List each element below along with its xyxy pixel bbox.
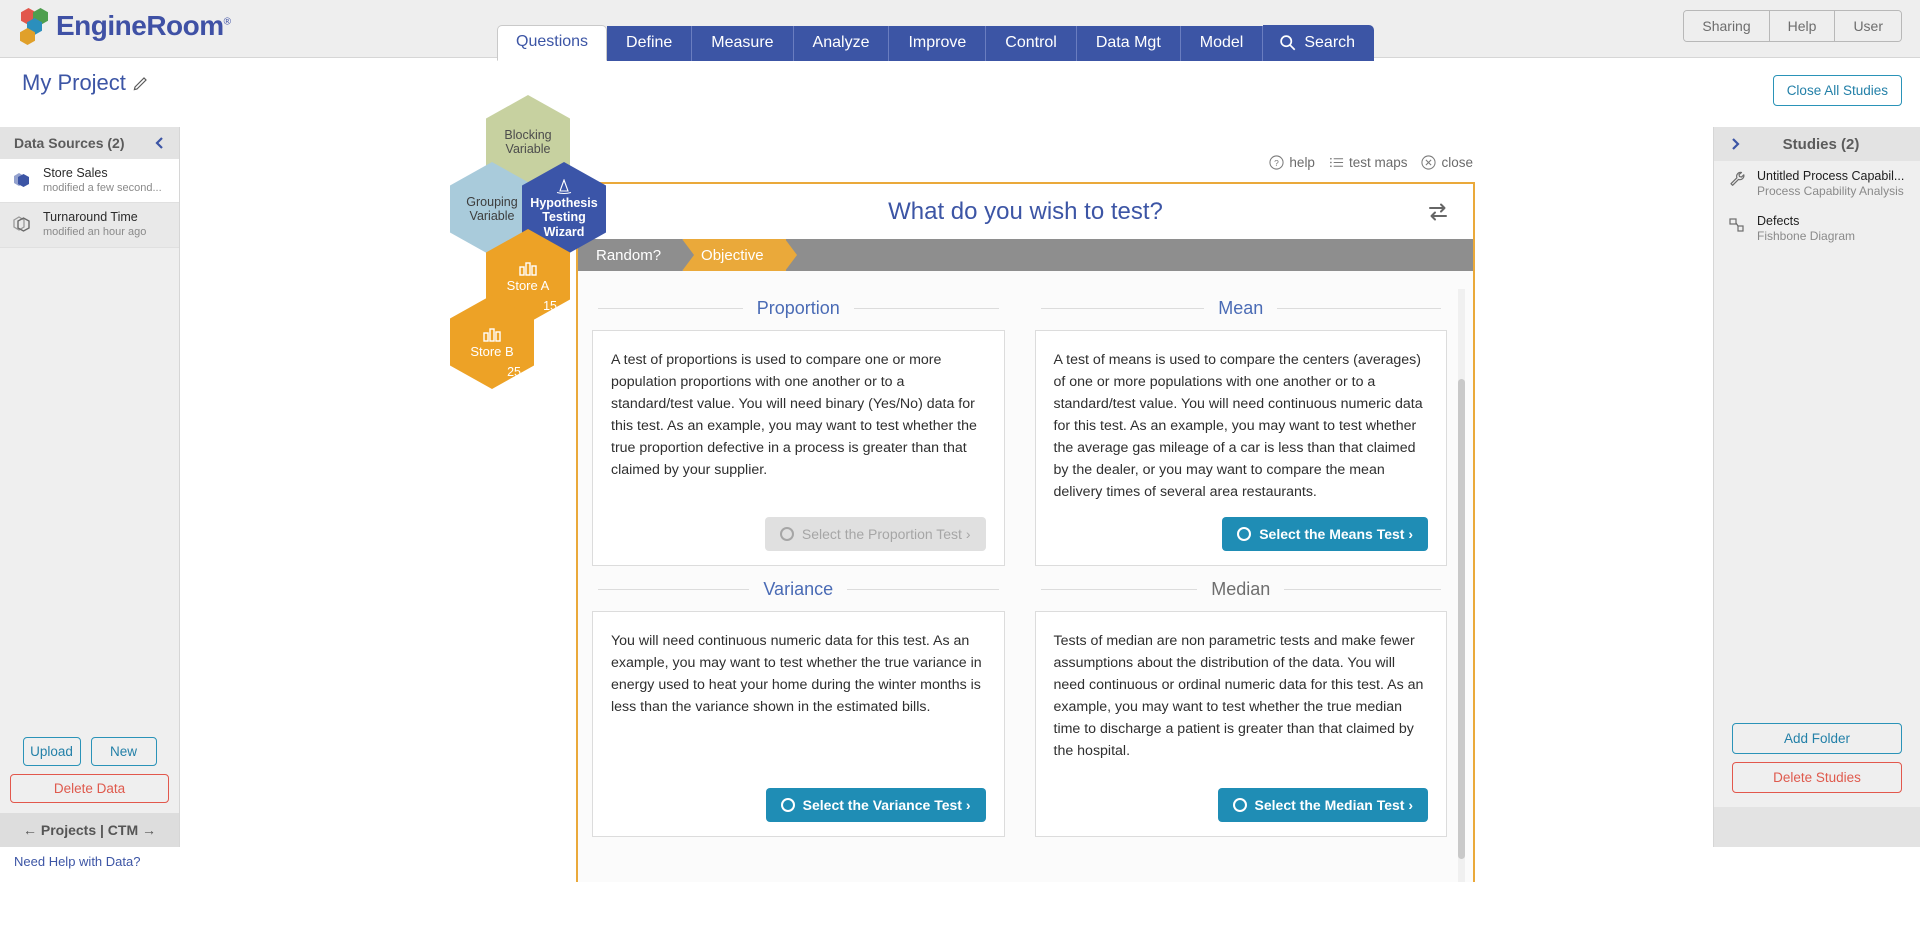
radio-ring-icon: [1233, 798, 1247, 812]
data-source-name: Store Sales: [43, 166, 162, 182]
data-sources-panel: Data Sources (2) Store Sales modified a …: [0, 127, 180, 847]
wizard-breadcrumbs: Random? Objective: [578, 239, 1473, 271]
section-title-proportion: Proportion: [592, 285, 1005, 330]
tab-model[interactable]: Model: [1181, 26, 1264, 61]
delete-studies-button[interactable]: Delete Studies: [1732, 762, 1902, 793]
study-name: Untitled Process Capabil...: [1757, 168, 1904, 184]
project-header: My Project: [0, 70, 180, 96]
studies-footer: [1714, 807, 1920, 847]
section-title-mean: Mean: [1035, 285, 1448, 330]
divider-line: [1284, 589, 1441, 590]
select-proportion-test-label: Select the Proportion Test ›: [802, 526, 971, 542]
card-proportion: A test of proportions is used to compare…: [592, 330, 1005, 566]
upload-new-row: Upload New: [10, 737, 169, 766]
tab-improve[interactable]: Improve: [889, 26, 986, 61]
select-median-test-label: Select the Median Test ›: [1255, 797, 1413, 813]
data-sources-header: Data Sources (2): [0, 127, 179, 159]
card-median-body: Tests of median are non parametric tests…: [1054, 630, 1429, 762]
studies-panel: Studies (2) Untitled Process Capabil... …: [1713, 127, 1920, 847]
wizard-toolbar: ? help test maps close: [1269, 155, 1473, 170]
close-all-studies-button[interactable]: Close All Studies: [1773, 75, 1902, 106]
section-cards-row-1: A test of proportions is used to compare…: [592, 330, 1447, 566]
main-navigation-tabs: Questions Define Measure Analyze Improve…: [497, 33, 1374, 61]
search-label: Search: [1304, 35, 1355, 51]
collapse-left-chevron-icon[interactable]: [153, 136, 167, 150]
section-title-text: Variance: [763, 579, 833, 600]
hex-blocking-label: Blocking Variable: [486, 128, 570, 157]
data-source-actions: Upload New Delete Data: [0, 729, 179, 813]
radio-ring-icon: [1237, 527, 1251, 541]
tab-control[interactable]: Control: [986, 26, 1077, 61]
wizard-help-button[interactable]: ? help: [1269, 155, 1315, 170]
data-source-stack-outline-icon: [10, 213, 34, 237]
brand-registered-mark: ®: [224, 17, 231, 28]
section-cards-row-2: You will need continuous numeric data fo…: [592, 611, 1447, 837]
wizard-close-button[interactable]: close: [1421, 155, 1473, 170]
study-type: Process Capability Analysis: [1757, 184, 1904, 200]
data-sources-list: Store Sales modified a few second... Tur…: [0, 159, 179, 248]
tab-questions[interactable]: Questions: [497, 25, 607, 61]
logo-text: EngineRoom®: [56, 10, 231, 42]
studies-spacer: [1714, 251, 1920, 723]
card-proportion-body: A test of proportions is used to compare…: [611, 349, 986, 481]
card-variance-body: You will need continuous numeric data fo…: [611, 630, 986, 718]
sharing-button[interactable]: Sharing: [1684, 11, 1769, 41]
card-variance: You will need continuous numeric data fo…: [592, 611, 1005, 837]
data-source-item-store-sales[interactable]: Store Sales modified a few second...: [0, 159, 179, 203]
studies-title: Studies (2): [1752, 136, 1906, 153]
expand-right-chevron-icon[interactable]: [1728, 137, 1742, 151]
page-title: My Project: [22, 70, 126, 96]
data-source-modified: modified an hour ago: [43, 226, 146, 240]
scrollbar-thumb[interactable]: [1458, 379, 1465, 859]
breadcrumb-divider: [682, 239, 694, 271]
study-item-defects[interactable]: Defects Fishbone Diagram: [1714, 206, 1920, 251]
card-median-cta-row: Select the Median Test ›: [1054, 774, 1429, 822]
app-logo[interactable]: EngineRoom®: [18, 8, 231, 44]
radio-ring-icon: [781, 798, 795, 812]
study-texts: Defects Fishbone Diagram: [1757, 213, 1855, 245]
brand-name: EngineRoom: [56, 10, 224, 41]
section-titles-row-1: Proportion Mean: [592, 285, 1447, 330]
user-button[interactable]: User: [1835, 11, 1901, 41]
wizard-hat-icon: [553, 179, 575, 195]
data-sources-title: Data Sources (2): [14, 135, 124, 151]
search-button[interactable]: Search: [1263, 25, 1374, 61]
bar-chart-icon: [517, 259, 539, 277]
hex-store-b-count: 25: [507, 365, 521, 379]
wizard-test-maps-label: test maps: [1349, 155, 1408, 170]
studies-list: Untitled Process Capabil... Process Capa…: [1714, 161, 1920, 251]
divider-line: [1041, 308, 1205, 309]
study-type: Fishbone Diagram: [1757, 229, 1855, 245]
bar-chart-icon: [481, 325, 503, 343]
studies-header: Studies (2): [1714, 127, 1920, 161]
hex-wizard-label: Hypothesis Testing Wizard: [522, 196, 606, 239]
help-button[interactable]: Help: [1770, 11, 1836, 41]
wrench-icon: [1728, 170, 1748, 190]
section-title-variance: Variance: [592, 566, 1005, 611]
breadcrumb-objective[interactable]: Objective: [683, 239, 786, 271]
data-source-modified: modified a few second...: [43, 182, 162, 196]
studies-actions: Add Folder Delete Studies: [1714, 723, 1920, 793]
close-circle-icon: [1421, 155, 1436, 170]
new-button[interactable]: New: [91, 737, 157, 766]
card-median: Tests of median are non parametric tests…: [1035, 611, 1448, 837]
wizard-question-title: What do you wish to test?: [888, 198, 1163, 226]
data-source-texts: Turnaround Time modified an hour ago: [43, 210, 146, 239]
wizard-help-label: help: [1289, 155, 1315, 170]
tab-measure[interactable]: Measure: [692, 26, 793, 61]
select-means-test-button[interactable]: Select the Means Test ›: [1222, 517, 1428, 551]
section-title-text: Mean: [1218, 298, 1263, 319]
card-mean-body: A test of means is used to compare the c…: [1054, 349, 1429, 503]
tab-define[interactable]: Define: [607, 26, 692, 61]
divider-line: [1277, 308, 1441, 309]
add-folder-button[interactable]: Add Folder: [1732, 723, 1902, 754]
section-titles-row-2: Variance Median: [592, 566, 1447, 611]
projects-ctm-nav[interactable]: ← Projects | CTM →: [0, 813, 179, 847]
hexagon-map: Blocking Variable Grouping Variable Hypo…: [450, 95, 630, 395]
card-proportion-cta-row: Select the Proportion Test ›: [611, 503, 986, 551]
tab-analyze[interactable]: Analyze: [794, 26, 890, 61]
card-mean: A test of means is used to compare the c…: [1035, 330, 1448, 566]
hex-grouping-label: Grouping Variable: [450, 195, 534, 224]
wizard-close-label: close: [1441, 155, 1473, 170]
card-mean-cta-row: Select the Means Test ›: [1054, 503, 1429, 551]
section-title-text: Median: [1211, 579, 1270, 600]
wizard-test-maps-button[interactable]: test maps: [1329, 155, 1408, 170]
study-texts: Untitled Process Capabil... Process Capa…: [1757, 168, 1904, 200]
top-right-button-group: Sharing Help User: [1683, 10, 1902, 42]
delete-data-button[interactable]: Delete Data: [10, 774, 169, 803]
card-variance-cta-row: Select the Variance Test ›: [611, 774, 986, 822]
hypothesis-testing-wizard-panel: ? help test maps close What do: [576, 182, 1475, 882]
select-proportion-test-button[interactable]: Select the Proportion Test ›: [765, 517, 986, 551]
hex-store-b-label: Store B: [470, 345, 513, 360]
section-title-text: Proportion: [757, 298, 840, 319]
list-icon: [1329, 155, 1344, 170]
section-title-median: Median: [1035, 566, 1448, 611]
hex-store-a-count: 15: [543, 299, 557, 313]
select-means-test-label: Select the Means Test ›: [1259, 526, 1413, 542]
need-help-with-data-link[interactable]: Need Help with Data?: [14, 854, 140, 869]
search-icon: [1279, 34, 1296, 51]
wizard-header: What do you wish to test?: [578, 184, 1473, 239]
edit-pencil-icon[interactable]: [133, 75, 149, 91]
divider-line: [1041, 589, 1198, 590]
logo-hexagons-icon: [18, 8, 52, 44]
radio-ring-icon: [780, 527, 794, 541]
sidebar-spacer: [0, 248, 179, 729]
wizard-body: Proportion Mean A test of proportions is…: [578, 271, 1473, 882]
select-variance-test-button[interactable]: Select the Variance Test ›: [766, 788, 986, 822]
select-median-test-button[interactable]: Select the Median Test ›: [1218, 788, 1428, 822]
select-variance-test-label: Select the Variance Test ›: [803, 797, 971, 813]
breadcrumb-objective-label: Objective: [701, 247, 764, 264]
data-source-name: Turnaround Time: [43, 210, 146, 226]
data-source-stack-icon: [10, 169, 34, 193]
question-circle-icon: ?: [1269, 155, 1284, 170]
divider-line: [598, 589, 749, 590]
study-item-process-capability[interactable]: Untitled Process Capabil... Process Capa…: [1714, 161, 1920, 206]
divider-line: [854, 308, 999, 309]
tab-data-mgt[interactable]: Data Mgt: [1077, 26, 1181, 61]
svg-text:?: ?: [1275, 158, 1280, 168]
hex-store-a-label: Store A: [507, 279, 550, 294]
study-name: Defects: [1757, 213, 1855, 229]
fishbone-icon: [1728, 215, 1748, 235]
data-source-texts: Store Sales modified a few second...: [43, 166, 162, 195]
upload-button[interactable]: Upload: [23, 737, 81, 766]
data-source-item-turnaround-time[interactable]: Turnaround Time modified an hour ago: [0, 203, 179, 247]
divider-line: [847, 589, 998, 590]
swap-icon[interactable]: [1425, 199, 1451, 225]
